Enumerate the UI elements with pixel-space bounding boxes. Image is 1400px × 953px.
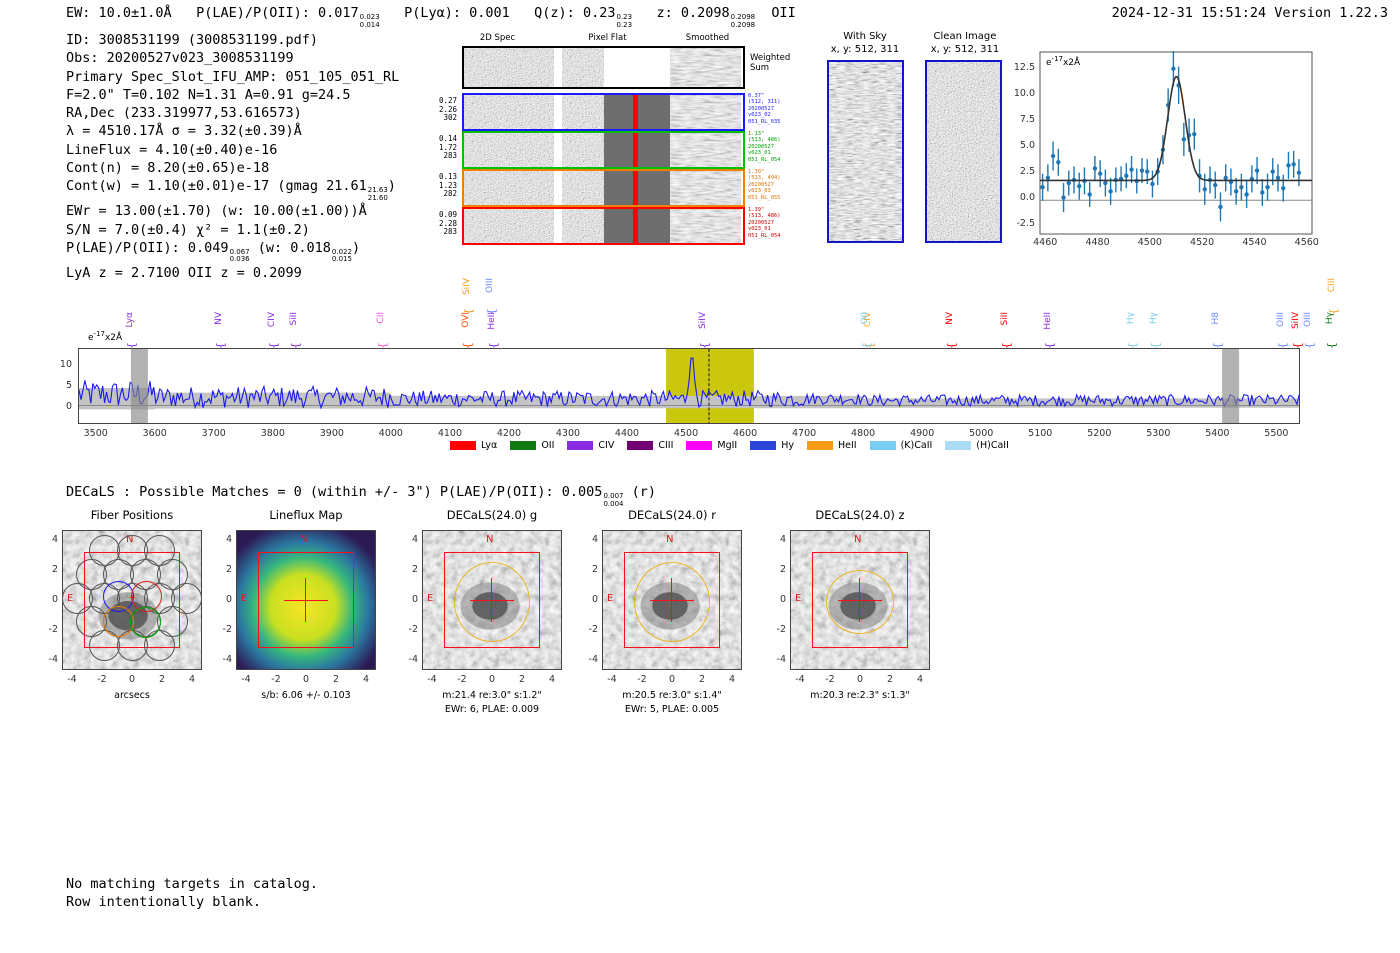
zoom-units-tail: x2Å xyxy=(1063,58,1080,68)
aperture-ellipse-2 xyxy=(454,562,530,642)
panel-ytick-1: -2 xyxy=(210,624,232,635)
panel-xtick-0: 4 xyxy=(178,674,206,685)
zoom-ytick: -2.5 xyxy=(1008,218,1035,229)
panel-ytick-0: 2 xyxy=(36,564,58,575)
fullspec-xtick: 3800 xyxy=(251,428,295,439)
legend-swatch-(K)CaII xyxy=(870,441,896,450)
panel-title-3: DECaLS(24.0) r xyxy=(582,508,762,522)
crosshair-v-1 xyxy=(305,578,306,622)
compass-north-3: N xyxy=(666,534,673,545)
line-label-SiIV: SiIV xyxy=(1291,312,1301,329)
line-label-CIII: CIII xyxy=(1327,278,1337,292)
panel-xtick-0: -2 xyxy=(88,674,116,685)
info-line-lambda: λ = 4510.17Å σ = 3.32(±0.39)Å xyxy=(66,122,399,140)
plae-lo: 0.036 xyxy=(230,256,250,264)
panel-xtick-1: -2 xyxy=(262,674,290,685)
zoom-xtick: 4480 xyxy=(1082,237,1114,248)
panel-ytick-2: -4 xyxy=(396,654,418,665)
line-label-Lyα: Lyα xyxy=(125,312,135,327)
panel-foot2-2: EWr: 6, PLAE: 0.009 xyxy=(397,704,587,717)
row4-val3: 283 xyxy=(413,228,457,237)
info-line-obs: Obs: 20200527v023_3008531199 xyxy=(66,49,399,67)
line-label-OII: OII xyxy=(860,312,870,324)
legend-item: Hy xyxy=(750,440,794,451)
header-summary: EW: 10.0±1.0Å P(LAE)/P(OII): 0.0170.0230… xyxy=(66,5,796,29)
fullspec-xtick: 4900 xyxy=(900,428,944,439)
fullspec-xtick: 4200 xyxy=(487,428,531,439)
panel-ytick-3: 4 xyxy=(576,534,598,545)
line-label-NV: NV xyxy=(214,312,224,325)
panel-xtick-4: 2 xyxy=(876,674,904,685)
legend-label-Lyα: Lyα xyxy=(481,440,497,451)
plae-w-lo: 0.015 xyxy=(332,256,352,264)
panel-xtick-0: 0 xyxy=(118,674,146,685)
fullspec-xtick: 4100 xyxy=(428,428,472,439)
panel-xtick-2: -2 xyxy=(448,674,476,685)
panel-xtick-3: 2 xyxy=(688,674,716,685)
line-label-HeII: HeII xyxy=(1043,312,1053,330)
info-line-plae: P(LAE)/P(OII): 0.0490.0670.036 (w: 0.018… xyxy=(66,239,399,264)
aperture-ellipse-3 xyxy=(634,562,710,642)
zoom-units-exp: -17 xyxy=(1052,55,1063,63)
line-label-H8: H8 xyxy=(1211,312,1221,325)
panel-xtick-2: -4 xyxy=(418,674,446,685)
plae-post: ) xyxy=(352,240,360,256)
panel-ytick-3: 0 xyxy=(576,594,598,605)
fullspec-xtick: 5100 xyxy=(1018,428,1062,439)
panel-xtick-3: -2 xyxy=(628,674,656,685)
row4-amp: 051_RL_054 xyxy=(748,233,780,239)
legend-swatch-CIII xyxy=(627,441,653,450)
legend-label-CIII: CIII xyxy=(658,440,673,451)
fiber-row-4-right-labels: 1.39" (513, 486) 20200527 v023_01 051_RL… xyxy=(748,207,780,239)
panel-ytick-1: 2 xyxy=(210,564,232,575)
full-spectrum-section: Lyα{NV{CIV{SiII{CII{SiIV{OIII{OVI{HeII{S… xyxy=(0,270,1400,470)
zoom-xtick: 4540 xyxy=(1238,237,1270,248)
panel-ytick-1: 0 xyxy=(210,594,232,605)
legend-label-HeII: HeII xyxy=(838,440,857,451)
header-z-label: z: xyxy=(656,5,672,21)
row2-val3: 283 xyxy=(413,152,457,161)
compass-east-1: E xyxy=(241,593,247,604)
fiber-row-3-left-labels: 0.13 1.23 282 xyxy=(413,173,457,199)
compass-east-3: E xyxy=(607,593,613,604)
fullspec-ytick: 5 xyxy=(46,380,72,391)
line-label-OIII: OIII xyxy=(1303,312,1313,327)
col-title-2dspec: 2D Spec xyxy=(445,33,550,43)
row4-xy: (513, 486) xyxy=(748,213,780,219)
panel-ytick-3: 2 xyxy=(576,564,598,575)
weighted-sum-label-line1: Weighted xyxy=(750,53,790,63)
header-plae-lo: 0.014 xyxy=(360,22,380,30)
fullspec-ytick: 0 xyxy=(46,401,72,412)
plae-mid: (w: 0.018 xyxy=(258,240,331,256)
legend-item: Lyα xyxy=(450,440,497,451)
legend-label-CIV: CIV xyxy=(598,440,614,451)
line-label-SiII: SiII xyxy=(289,312,299,326)
panel-xtick-1: -4 xyxy=(232,674,260,685)
info-line-lineflux: LineFlux = 4.10(±0.40)e-16 xyxy=(66,141,399,159)
fiber-row-4 xyxy=(462,207,745,245)
decals-header-pre: DECaLS : Possible Matches = 0 (within +/… xyxy=(66,484,602,500)
fullspec-xtick: 4400 xyxy=(605,428,649,439)
panel-title-4: DECaLS(24.0) z xyxy=(770,508,950,522)
clean-image-image xyxy=(925,60,1002,243)
full-spectrum-chart xyxy=(78,348,1300,424)
info-line-cont-n: Cont(n) = 8.20(±0.65)e-18 xyxy=(66,159,399,177)
panel-ytick-1: 4 xyxy=(210,534,232,545)
fullspec-legend: LyαOIICIVCIIIMgIIHyHeII(K)CaII(H)CaII xyxy=(450,440,1022,451)
panel-ytick-0: -4 xyxy=(36,654,58,665)
zoom-spectrum-chart: e-17x2Å 446044804500452045404560 -2.50.0… xyxy=(1040,52,1312,234)
zoom-xtick: 4500 xyxy=(1134,237,1166,248)
panel-ytick-2: 2 xyxy=(396,564,418,575)
panel-ytick-0: 0 xyxy=(36,594,58,605)
legend-label-Hy: Hy xyxy=(781,440,794,451)
weighted-sum-label: Weighted Sum xyxy=(750,53,790,73)
aperture-ellipse-4 xyxy=(826,570,894,634)
fullspec-xtick: 4800 xyxy=(841,428,885,439)
fullspec-xtick: 4500 xyxy=(664,428,708,439)
panel-title-0: Fiber Positions xyxy=(42,508,222,522)
row2-amp: 051_RL_054 xyxy=(748,157,780,163)
cont-w-post: ) xyxy=(388,178,396,194)
info-line-id: ID: 3008531199 (3008531199.pdf) xyxy=(66,31,399,49)
fullspec-xtick: 3500 xyxy=(74,428,118,439)
plae-pre: P(LAE)/P(OII): 0.049 xyxy=(66,240,229,256)
fullspec-xtick: 4300 xyxy=(546,428,590,439)
zoom-ytick: 2.5 xyxy=(1008,166,1035,177)
fullspec-xtick: 3600 xyxy=(133,428,177,439)
panel-xtick-1: 4 xyxy=(352,674,380,685)
panel-ytick-1: -4 xyxy=(210,654,232,665)
bottom-note-line2: Row intentionally blank. xyxy=(66,893,318,911)
fullspec-ytick: 10 xyxy=(46,359,72,370)
zoom-ytick: 7.5 xyxy=(1008,114,1035,125)
panel-foot2-3: EWr: 5, PLAE: 0.005 xyxy=(577,704,767,717)
fullspec-xtick: 5200 xyxy=(1077,428,1121,439)
zoom-xtick: 4560 xyxy=(1291,237,1323,248)
fullspec-xtick: 3700 xyxy=(192,428,236,439)
fullspec-xtick: 4000 xyxy=(369,428,413,439)
legend-swatch-HeII xyxy=(807,441,833,450)
header-qz-label: Q(z): xyxy=(534,5,575,21)
weighted-sum-label-line2: Sum xyxy=(750,63,790,73)
panel-foot1-2: m:21.4 re:3.0" s:1.2" xyxy=(397,690,587,703)
header-plya-label: P(Lyα): xyxy=(404,5,461,21)
clean-image-subtitle: x, y: 512, 311 xyxy=(905,44,1025,56)
panel-xtick-4: 0 xyxy=(846,674,874,685)
line-label-Hγ: Hγ xyxy=(1126,312,1136,324)
compass-north-4: N xyxy=(854,534,861,545)
header-ew: EW: 10.0±1.0Å xyxy=(66,5,172,21)
weighted-sum-row xyxy=(462,46,745,89)
legend-swatch-(H)CaII xyxy=(945,441,971,450)
panel-foot1-1: s/b: 6.06 +/- 0.103 xyxy=(211,690,401,703)
panel-xtick-2: 4 xyxy=(538,674,566,685)
panel-xtick-0: 2 xyxy=(148,674,176,685)
info-line-radec: RA,Dec (233.319977,53.616573) xyxy=(66,104,399,122)
panel-title-2: DECaLS(24.0) g xyxy=(402,508,582,522)
line-bracket-Hγ: { xyxy=(1325,342,1338,349)
zoom-ytick: 10.0 xyxy=(1008,88,1035,99)
panel-xtick-2: 0 xyxy=(478,674,506,685)
panel-foot1-4: m:20.3 re:2.3" s:1.3" xyxy=(765,690,955,703)
legend-label-(H)CaII: (H)CaII xyxy=(976,440,1009,451)
panel-ytick-4: 4 xyxy=(764,534,786,545)
line-label-SiIV: SiIV xyxy=(462,278,472,295)
decals-plae-lo: 0.004 xyxy=(603,501,623,509)
info-line-ewr: EWr = 13.00(±1.70) (w: 10.00(±1.00))Å xyxy=(66,202,399,220)
legend-item: OII xyxy=(510,440,554,451)
zoom-ytick: 0.0 xyxy=(1008,192,1035,203)
with-sky-image xyxy=(827,60,904,243)
line-label-OIII: OIII xyxy=(1276,312,1286,327)
line-label-Hγ: Hγ xyxy=(1149,312,1159,324)
fiber-row-1-left-labels: 0.27 2.26 302 xyxy=(413,97,457,123)
clean-image-title: Clean Image xyxy=(905,31,1025,43)
fiber-row-2-left-labels: 0.14 1.72 283 xyxy=(413,135,457,161)
row3-xy: (513, 494) xyxy=(748,175,780,181)
panel-xlabel-0: arcsecs xyxy=(42,690,222,703)
zoom-ytick: 12.5 xyxy=(1008,62,1035,73)
panel-xtick-3: 4 xyxy=(718,674,746,685)
line-label-OIII: OIII xyxy=(485,278,495,293)
panel-ytick-4: -2 xyxy=(764,624,786,635)
legend-swatch-Hy xyxy=(750,441,776,450)
timestamp: 2024-12-31 15:51:24 Version 1.22.3 xyxy=(1112,5,1388,21)
header-qz-value: 0.23 xyxy=(583,5,616,21)
header-qz-lo: 0.23 xyxy=(616,22,632,30)
row3-val3: 282 xyxy=(413,190,457,199)
decals-header: DECaLS : Possible Matches = 0 (within +/… xyxy=(66,484,656,508)
header-z-lo: 0.2098 xyxy=(731,22,756,30)
panel-xtick-4: -2 xyxy=(816,674,844,685)
panel-ytick-0: -2 xyxy=(36,624,58,635)
line-label-SiIV: SiIV xyxy=(698,312,708,329)
fiber-row-1-right-labels: 0.37" (512, 311) 20200527 v023_02 051_RL… xyxy=(748,93,780,125)
legend-swatch-CIV xyxy=(567,441,593,450)
legend-item: (H)CaII xyxy=(945,440,1009,451)
row1-amp: 051_RL_035 xyxy=(748,119,780,125)
row2-xy: (513, 486) xyxy=(748,137,780,143)
line-label-CIV: CIV xyxy=(267,312,277,327)
2d-spectrum-panel: 2D Spec Pixel Flat Smoothed Weighted Sum… xyxy=(425,33,755,253)
panel-xtick-0: -4 xyxy=(58,674,86,685)
zoom-units-label: e-17x2Å xyxy=(1046,55,1080,68)
with-sky-subtitle: x, y: 512, 311 xyxy=(810,44,920,56)
decals-header-post: (r) xyxy=(632,484,656,500)
compass-east-4: E xyxy=(795,593,801,604)
info-line-snr: S/N = 7.0(±0.4) χ² = 1.1(±0.2) xyxy=(66,221,399,239)
panel-ytick-4: 2 xyxy=(764,564,786,575)
fiber-row-3 xyxy=(462,169,745,207)
info-line-params: F=2.0" T=0.102 N=1.31 A=0.91 g=24.5 xyxy=(66,86,399,104)
compass-north-2: N xyxy=(486,534,493,545)
fiber-circle-highlight-2 xyxy=(103,606,134,637)
bottom-note: No matching targets in catalog. Row inte… xyxy=(66,875,318,912)
panel-ytick-2: -2 xyxy=(396,624,418,635)
fullspec-xtick: 5000 xyxy=(959,428,1003,439)
fiber-row-3-right-labels: 1.30" (513, 494) 20200527 v023_03 051_RL… xyxy=(748,169,780,201)
info-line-primary: Primary Spec_Slot_IFU_AMP: 051_105_051_R… xyxy=(66,68,399,86)
legend-swatch-OII xyxy=(510,441,536,450)
fullspec-xtick: 5500 xyxy=(1254,428,1298,439)
zoom-ytick: 5.0 xyxy=(1008,140,1035,151)
col-title-smoothed: Smoothed xyxy=(660,33,755,43)
line-label-HeII: HeII xyxy=(487,312,497,330)
legend-label-(K)CaII: (K)CaII xyxy=(901,440,933,451)
fiber-row-2 xyxy=(462,131,745,169)
legend-swatch-Lyα xyxy=(450,441,476,450)
line-label-Hγ: Hγ xyxy=(1325,312,1335,324)
fullspec-xtick: 5400 xyxy=(1195,428,1239,439)
detection-info-block: ID: 3008531199 (3008531199.pdf) Obs: 202… xyxy=(66,31,399,282)
line-label-CII: CII xyxy=(376,312,386,324)
legend-label-MgII: MgII xyxy=(717,440,737,451)
fiber-row-1 xyxy=(462,93,745,131)
cont-w-lo: 21.60 xyxy=(368,195,388,203)
zoom-xtick: 4460 xyxy=(1029,237,1061,248)
legend-item: CIV xyxy=(567,440,614,451)
fiber-row-4-left-labels: 0.09 2.28 283 xyxy=(413,211,457,237)
fullspec-xtick: 3900 xyxy=(310,428,354,439)
col-title-pixelflat: Pixel Flat xyxy=(555,33,660,43)
panel-xtick-1: 0 xyxy=(292,674,320,685)
row1-val3: 302 xyxy=(413,114,457,123)
legend-item: (K)CaII xyxy=(870,440,933,451)
with-sky-title: With Sky xyxy=(810,31,920,43)
legend-item: MgII xyxy=(686,440,737,451)
panel-foot1-3: m:20.5 re:3.0" s:1.4" xyxy=(577,690,767,703)
bottom-note-line1: No matching targets in catalog. xyxy=(66,875,318,893)
panel-title-1: Lineflux Map xyxy=(216,508,396,522)
fullspec-xtick: 5300 xyxy=(1136,428,1180,439)
legend-item: HeII xyxy=(807,440,857,451)
line-label-OVI: OVI xyxy=(461,312,471,328)
cont-w-pre: Cont(w) = 1.10(±0.01)e-17 (gmag 21.61 xyxy=(66,178,367,194)
header-plya-value: 0.001 xyxy=(469,5,510,21)
row3-amp: 051_RL_055 xyxy=(748,195,780,201)
compass-east-2: E xyxy=(427,593,433,604)
fiber-row-2-right-labels: 1.13" (513, 486) 20200527 v023_01 051_RL… xyxy=(748,131,780,163)
panel-ytick-0: 4 xyxy=(36,534,58,545)
line-label-NV: NV xyxy=(945,312,955,325)
panel-xtick-3: -4 xyxy=(598,674,626,685)
legend-item: CIII xyxy=(627,440,673,451)
legend-swatch-MgII xyxy=(686,441,712,450)
panel-ytick-4: -4 xyxy=(764,654,786,665)
fullspec-units-label: e-17x2Å xyxy=(88,330,122,343)
panel-xtick-4: -4 xyxy=(786,674,814,685)
legend-label-OII: OII xyxy=(541,440,554,451)
panel-ytick-3: -2 xyxy=(576,624,598,635)
line-bracket-OIII: { xyxy=(1303,342,1316,349)
panel-ytick-4: 0 xyxy=(764,594,786,605)
line-label-SiII: SiII xyxy=(1000,312,1010,326)
panel-ytick-2: 4 xyxy=(396,534,418,545)
panel-xtick-1: 2 xyxy=(322,674,350,685)
fiber-circle-highlight-3 xyxy=(130,607,161,638)
panel-ytick-3: -4 xyxy=(576,654,598,665)
fs-units-tail: x2Å xyxy=(105,333,122,343)
header-z-value: 0.2098 xyxy=(681,5,730,21)
fs-units-exp: -17 xyxy=(94,330,105,338)
fullspec-xtick: 4700 xyxy=(782,428,826,439)
fiber-center-marker: + xyxy=(129,591,136,604)
panel-xtick-3: 0 xyxy=(658,674,686,685)
zoom-xtick: 4520 xyxy=(1186,237,1218,248)
header-plae-value: 0.017 xyxy=(318,5,359,21)
row1-xy: (512, 311) xyxy=(748,99,780,105)
panel-ytick-2: 0 xyxy=(396,594,418,605)
header-plae-label: P(LAE)/P(OII): xyxy=(196,5,310,21)
fullspec-xtick: 4600 xyxy=(723,428,767,439)
compass-north-1: N xyxy=(300,534,307,545)
panel-xtick-4: 4 xyxy=(906,674,934,685)
panel-xtick-2: 2 xyxy=(508,674,536,685)
info-line-cont-w: Cont(w) = 1.10(±0.01)e-17 (gmag 21.6121.… xyxy=(66,177,399,202)
header-z-type: OII xyxy=(771,5,795,21)
